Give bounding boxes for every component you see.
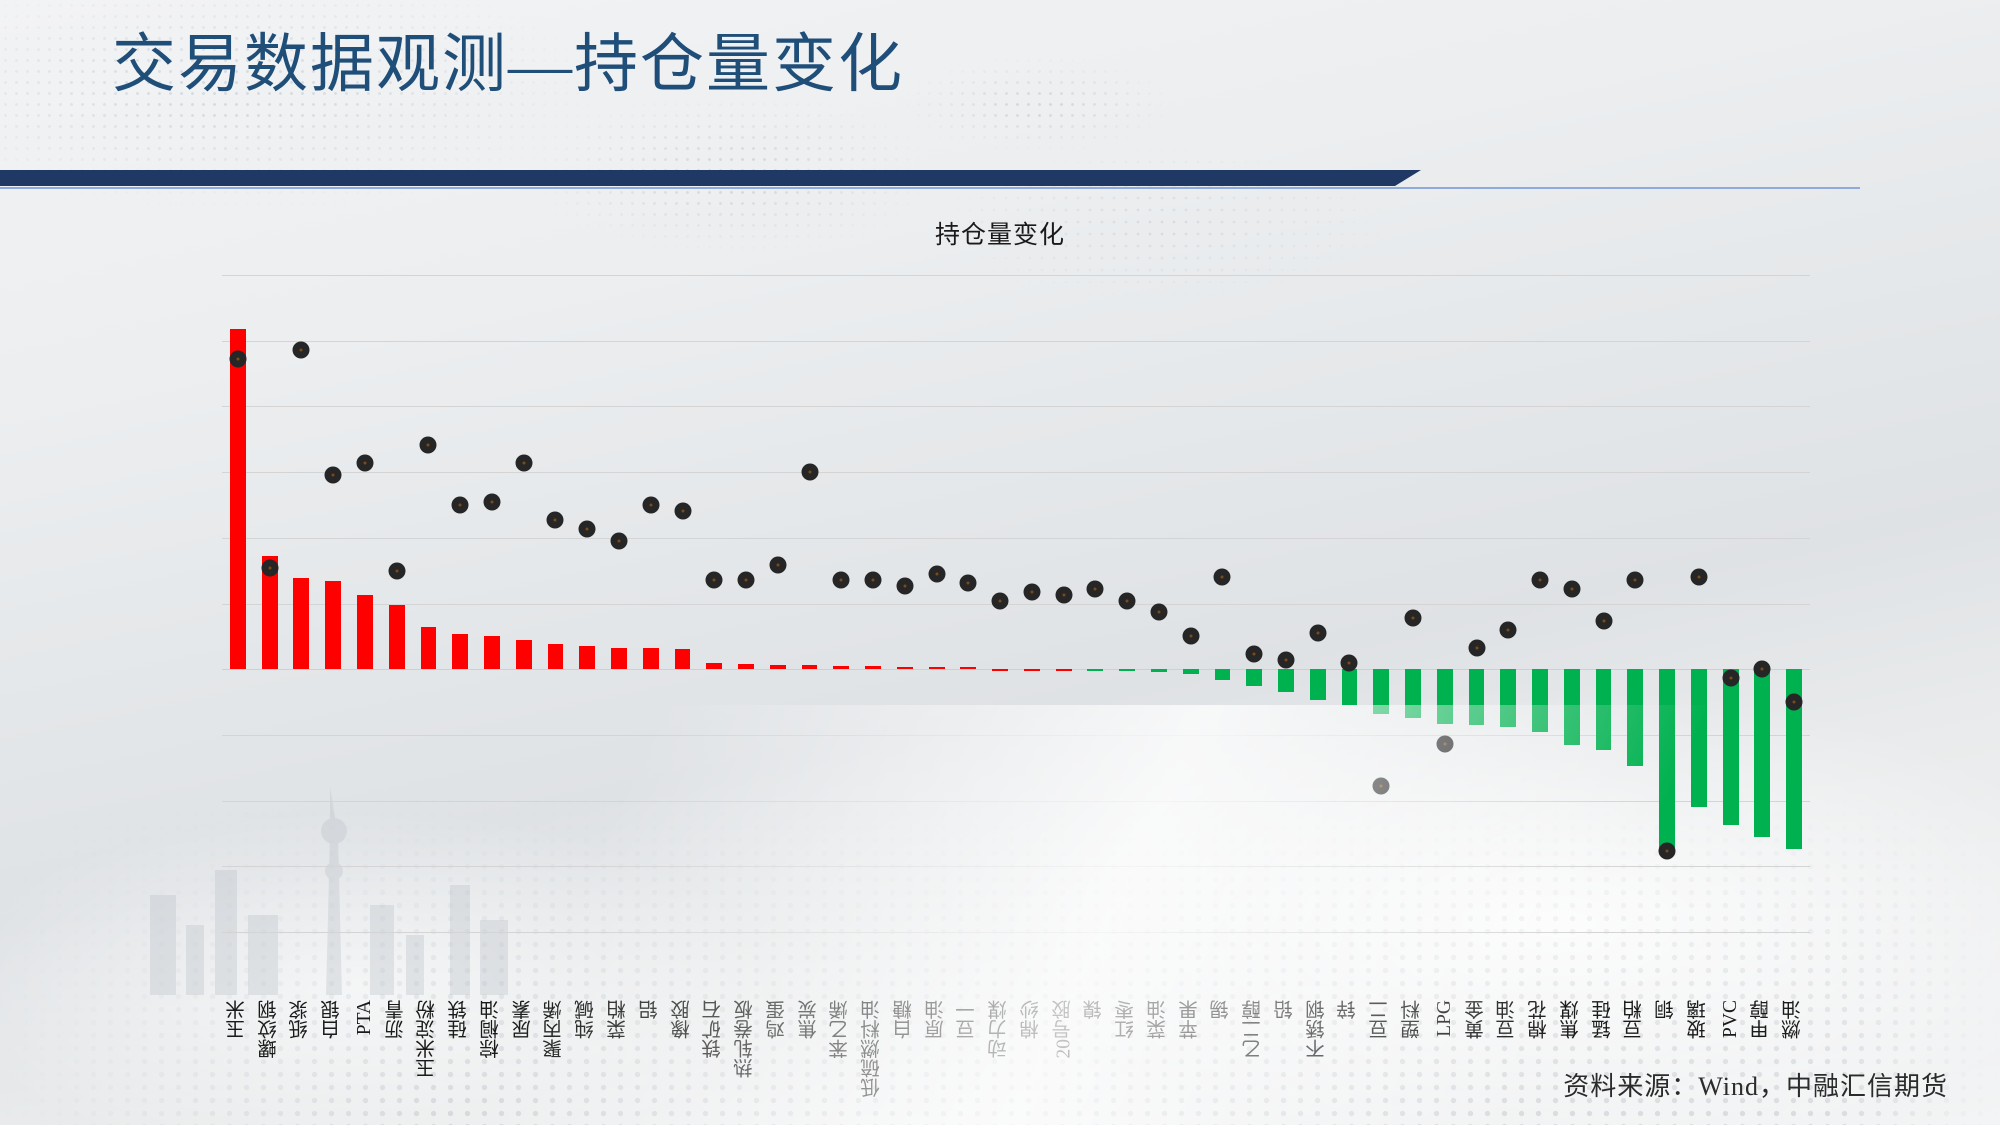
chart-scatter-marker [1055,586,1072,603]
chart-bar [1310,669,1326,700]
chart-bar [1532,669,1548,732]
chart-bar [1659,669,1675,852]
chart-bar [1691,669,1707,807]
x-axis-category-label: 尿素 [509,1000,538,1039]
x-axis-category-label: 黄金 [1462,1000,1491,1039]
x-axis-category-label: 不锈钢 [1303,1000,1332,1059]
chart-scatter-marker [1468,640,1485,657]
chart-bar [1056,669,1072,671]
x-axis-category-label: 豆粕 [1621,1000,1650,1039]
chart-bar [1278,669,1294,692]
chart-bar [802,665,818,669]
chart-bar [643,648,659,669]
chart-bar [1151,669,1167,672]
chart-bar [1596,669,1612,750]
chart-scatter-marker [1119,592,1136,609]
chart-bar [230,329,246,669]
chart-scatter-marker [865,571,882,588]
chart-bar [484,636,500,670]
chart-scatter-marker [1436,735,1453,752]
title-divider-hairline [0,187,1860,189]
chart-scatter-marker [1405,610,1422,627]
x-axis-category-label: 白银 [319,1000,348,1039]
x-axis-category-label: 铁矿石 [700,1000,729,1059]
chart-gridline [222,801,1810,802]
chart-bar [579,646,595,669]
x-axis-category-label: 乙二醇 [1240,1000,1269,1059]
chart-x-axis-labels: 玉米螺纹钢纸浆白银PTA沥青玉米淀粉硅铁棕榈油尿素聚丙烯纯碱菜粕铝橡胶铁矿石热轧… [222,992,1810,1125]
x-axis-category-label: 锌 [1335,1000,1364,1020]
source-note: 资料来源：Wind，中融汇信期货 [1563,1066,1948,1103]
chart-scatter-marker [325,467,342,484]
chart-bar [960,667,976,669]
chart-scatter-marker [1341,655,1358,672]
x-axis-category-label: 纸浆 [287,1000,316,1039]
chart-bar [1627,669,1643,766]
x-axis-category-label: 菜油 [1144,1000,1173,1039]
x-axis-category-label: 玻璃 [1684,1000,1713,1039]
x-axis-category-label: 螺纹钢 [255,1000,284,1059]
x-axis-category-label: 镍 [1081,1000,1110,1020]
chart-scatter-marker [1754,661,1771,678]
x-axis-category-label: 苯乙烯 [827,1000,856,1059]
chart-bar [1405,669,1421,718]
chart-bar [1564,669,1580,745]
x-axis-category-label: 橡胶 [668,1000,697,1039]
x-axis-category-label: 棉纱 [1017,1000,1046,1039]
chart-bar [738,664,754,669]
chart-scatter-marker [356,455,373,472]
chart-gridline [222,538,1810,539]
x-axis-category-label: 低硫燃料油 [859,1000,888,1098]
chart-bar [897,667,913,670]
chart-scatter-marker [992,592,1009,609]
x-axis-category-label: 棕榈油 [477,1000,506,1059]
chart-bar [1437,669,1453,724]
chart-scatter-marker [801,464,818,481]
chart-bar [1373,669,1389,714]
x-axis-category-label: 铝 [636,1000,665,1020]
chart-scatter-marker [1722,670,1739,687]
title-divider-bar [0,170,1395,186]
chart-gridline [222,341,1810,342]
x-axis-category-label: 白糖 [890,1000,919,1039]
chart-scatter-marker [229,350,246,367]
x-axis-category-label: 豆二 [1367,1000,1396,1039]
chart-bar [1215,669,1231,680]
chart-bar [1469,669,1485,725]
chart-bar [293,578,309,669]
x-axis-category-label: 热轧卷板 [732,1000,761,1078]
x-axis-category-label: 豆油 [1494,1000,1523,1039]
chart-bar [357,595,373,669]
x-axis-category-label: LPG [1434,1000,1456,1037]
chart-scatter-marker [1246,646,1263,663]
chart-scatter-marker [515,455,532,472]
chart-scatter-marker [1595,613,1612,630]
chart-scatter-marker [1087,580,1104,597]
chart-bar [1342,669,1358,704]
chart-title: 持仓量变化 [0,215,2000,251]
x-axis-category-label: 玉米 [223,1000,252,1039]
chart-bar [992,669,1008,671]
chart-bar [1183,669,1199,674]
chart-scatter-marker [1627,571,1644,588]
title-block: 交易数据观测—持仓量变化 [0,25,1420,105]
chart-scatter-marker [833,571,850,588]
chart-scatter-marker [1150,604,1167,621]
x-axis-category-label: 甲醇 [1748,1000,1777,1039]
chart-bar [929,667,945,669]
chart-plot-area: 6000050000400003000020000100000-10000-20… [222,275,1810,932]
chart-scatter-marker [1786,694,1803,711]
chart-container: 持仓量变化 6000050000400003000020000100000-10… [0,215,2000,975]
chart-scatter-marker [1214,568,1231,585]
chart-scatter-marker [1373,777,1390,794]
chart-scatter-marker [769,556,786,573]
chart-bar [1087,669,1103,671]
chart-bar [770,665,786,670]
chart-scatter-marker [1690,568,1707,585]
chart-scatter-marker [293,341,310,358]
chart-bar [1754,669,1770,837]
chart-bar [611,648,627,670]
chart-scatter-marker [1659,843,1676,860]
chart-scatter-marker [642,496,659,513]
chart-scatter-marker [1309,625,1326,642]
chart-bar [421,627,437,669]
chart-gridline [222,604,1810,605]
x-axis-category-label: 玉米淀粉 [414,1000,443,1078]
x-axis-category-label: 硅铁 [446,1000,475,1039]
chart-bar [833,666,849,669]
chart-gridline [222,406,1810,407]
chart-scatter-marker [1277,652,1294,669]
x-axis-category-label: 塑料 [1399,1000,1428,1039]
x-axis-category-label: 菜粕 [605,1000,634,1039]
page-title: 交易数据观测—持仓量变化 [0,25,1420,105]
x-axis-category-label: 聚丙烯 [541,1000,570,1059]
chart-bar [675,649,691,669]
chart-scatter-marker [706,571,723,588]
chart-scatter-marker [483,493,500,510]
chart-scatter-marker [1563,580,1580,597]
chart-scatter-marker [1532,571,1549,588]
chart-scatter-marker [611,532,628,549]
chart-scatter-marker [452,496,469,513]
chart-scatter-marker [388,562,405,579]
chart-scatter-marker [420,437,437,454]
x-axis-category-label: 红枣 [1113,1000,1142,1039]
chart-scatter-marker [579,520,596,537]
x-axis-category-label: 动力煤 [986,1000,1015,1059]
x-axis-category-label: 焦煤 [1557,1000,1586,1039]
title-divider [0,170,1420,192]
chart-bar [325,581,341,670]
x-axis-category-label: 苹果 [1176,1000,1205,1039]
chart-bar [706,663,722,669]
x-axis-category-label: 20号胶 [1049,1000,1078,1059]
chart-gridline [222,866,1810,867]
x-axis-category-label: 铅 [1271,1000,1300,1020]
x-axis-category-label: 豆一 [954,1000,983,1039]
x-axis-category-label: 棉花 [1526,1000,1555,1039]
chart-scatter-marker [547,511,564,528]
x-axis-category-label: 纯碱 [573,1000,602,1039]
chart-scatter-marker [738,571,755,588]
chart-bar [452,634,468,669]
x-axis-category-label: 燃油 [1780,1000,1809,1039]
chart-bar [865,666,881,669]
x-axis-category-label: 沥青 [382,1000,411,1039]
x-axis-category-label: PVC [1720,1000,1742,1038]
x-axis-category-label: 锡 [1208,1000,1237,1020]
chart-scatter-marker [261,559,278,576]
chart-scatter-marker [896,577,913,594]
chart-bar [389,605,405,669]
x-axis-category-label: 原油 [922,1000,951,1039]
chart-scatter-marker [1182,628,1199,645]
x-axis-category-label: 焦炭 [795,1000,824,1039]
chart-bar [1723,669,1739,825]
chart-scatter-marker [1023,583,1040,600]
chart-bar [1246,669,1262,686]
slide-canvas: 交易数据观测—持仓量变化 持仓量变化 600005000040000300002… [0,0,2000,1125]
chart-bar [1500,669,1516,727]
chart-scatter-marker [1500,622,1517,639]
chart-gridline [222,275,1810,276]
chart-gridline [222,932,1810,933]
x-axis-category-label: 鸡蛋 [763,1000,792,1039]
chart-bar [1024,669,1040,671]
chart-bar [548,644,564,670]
chart-scatter-marker [960,574,977,591]
x-axis-category-label: 锰硅 [1589,1000,1618,1039]
chart-scatter-marker [674,502,691,519]
chart-bar [516,640,532,669]
x-axis-category-label: 铜 [1653,1000,1682,1020]
chart-bar [1119,669,1135,671]
chart-gridline [222,472,1810,473]
chart-scatter-marker [928,565,945,582]
x-axis-category-label: PTA [354,1000,376,1035]
